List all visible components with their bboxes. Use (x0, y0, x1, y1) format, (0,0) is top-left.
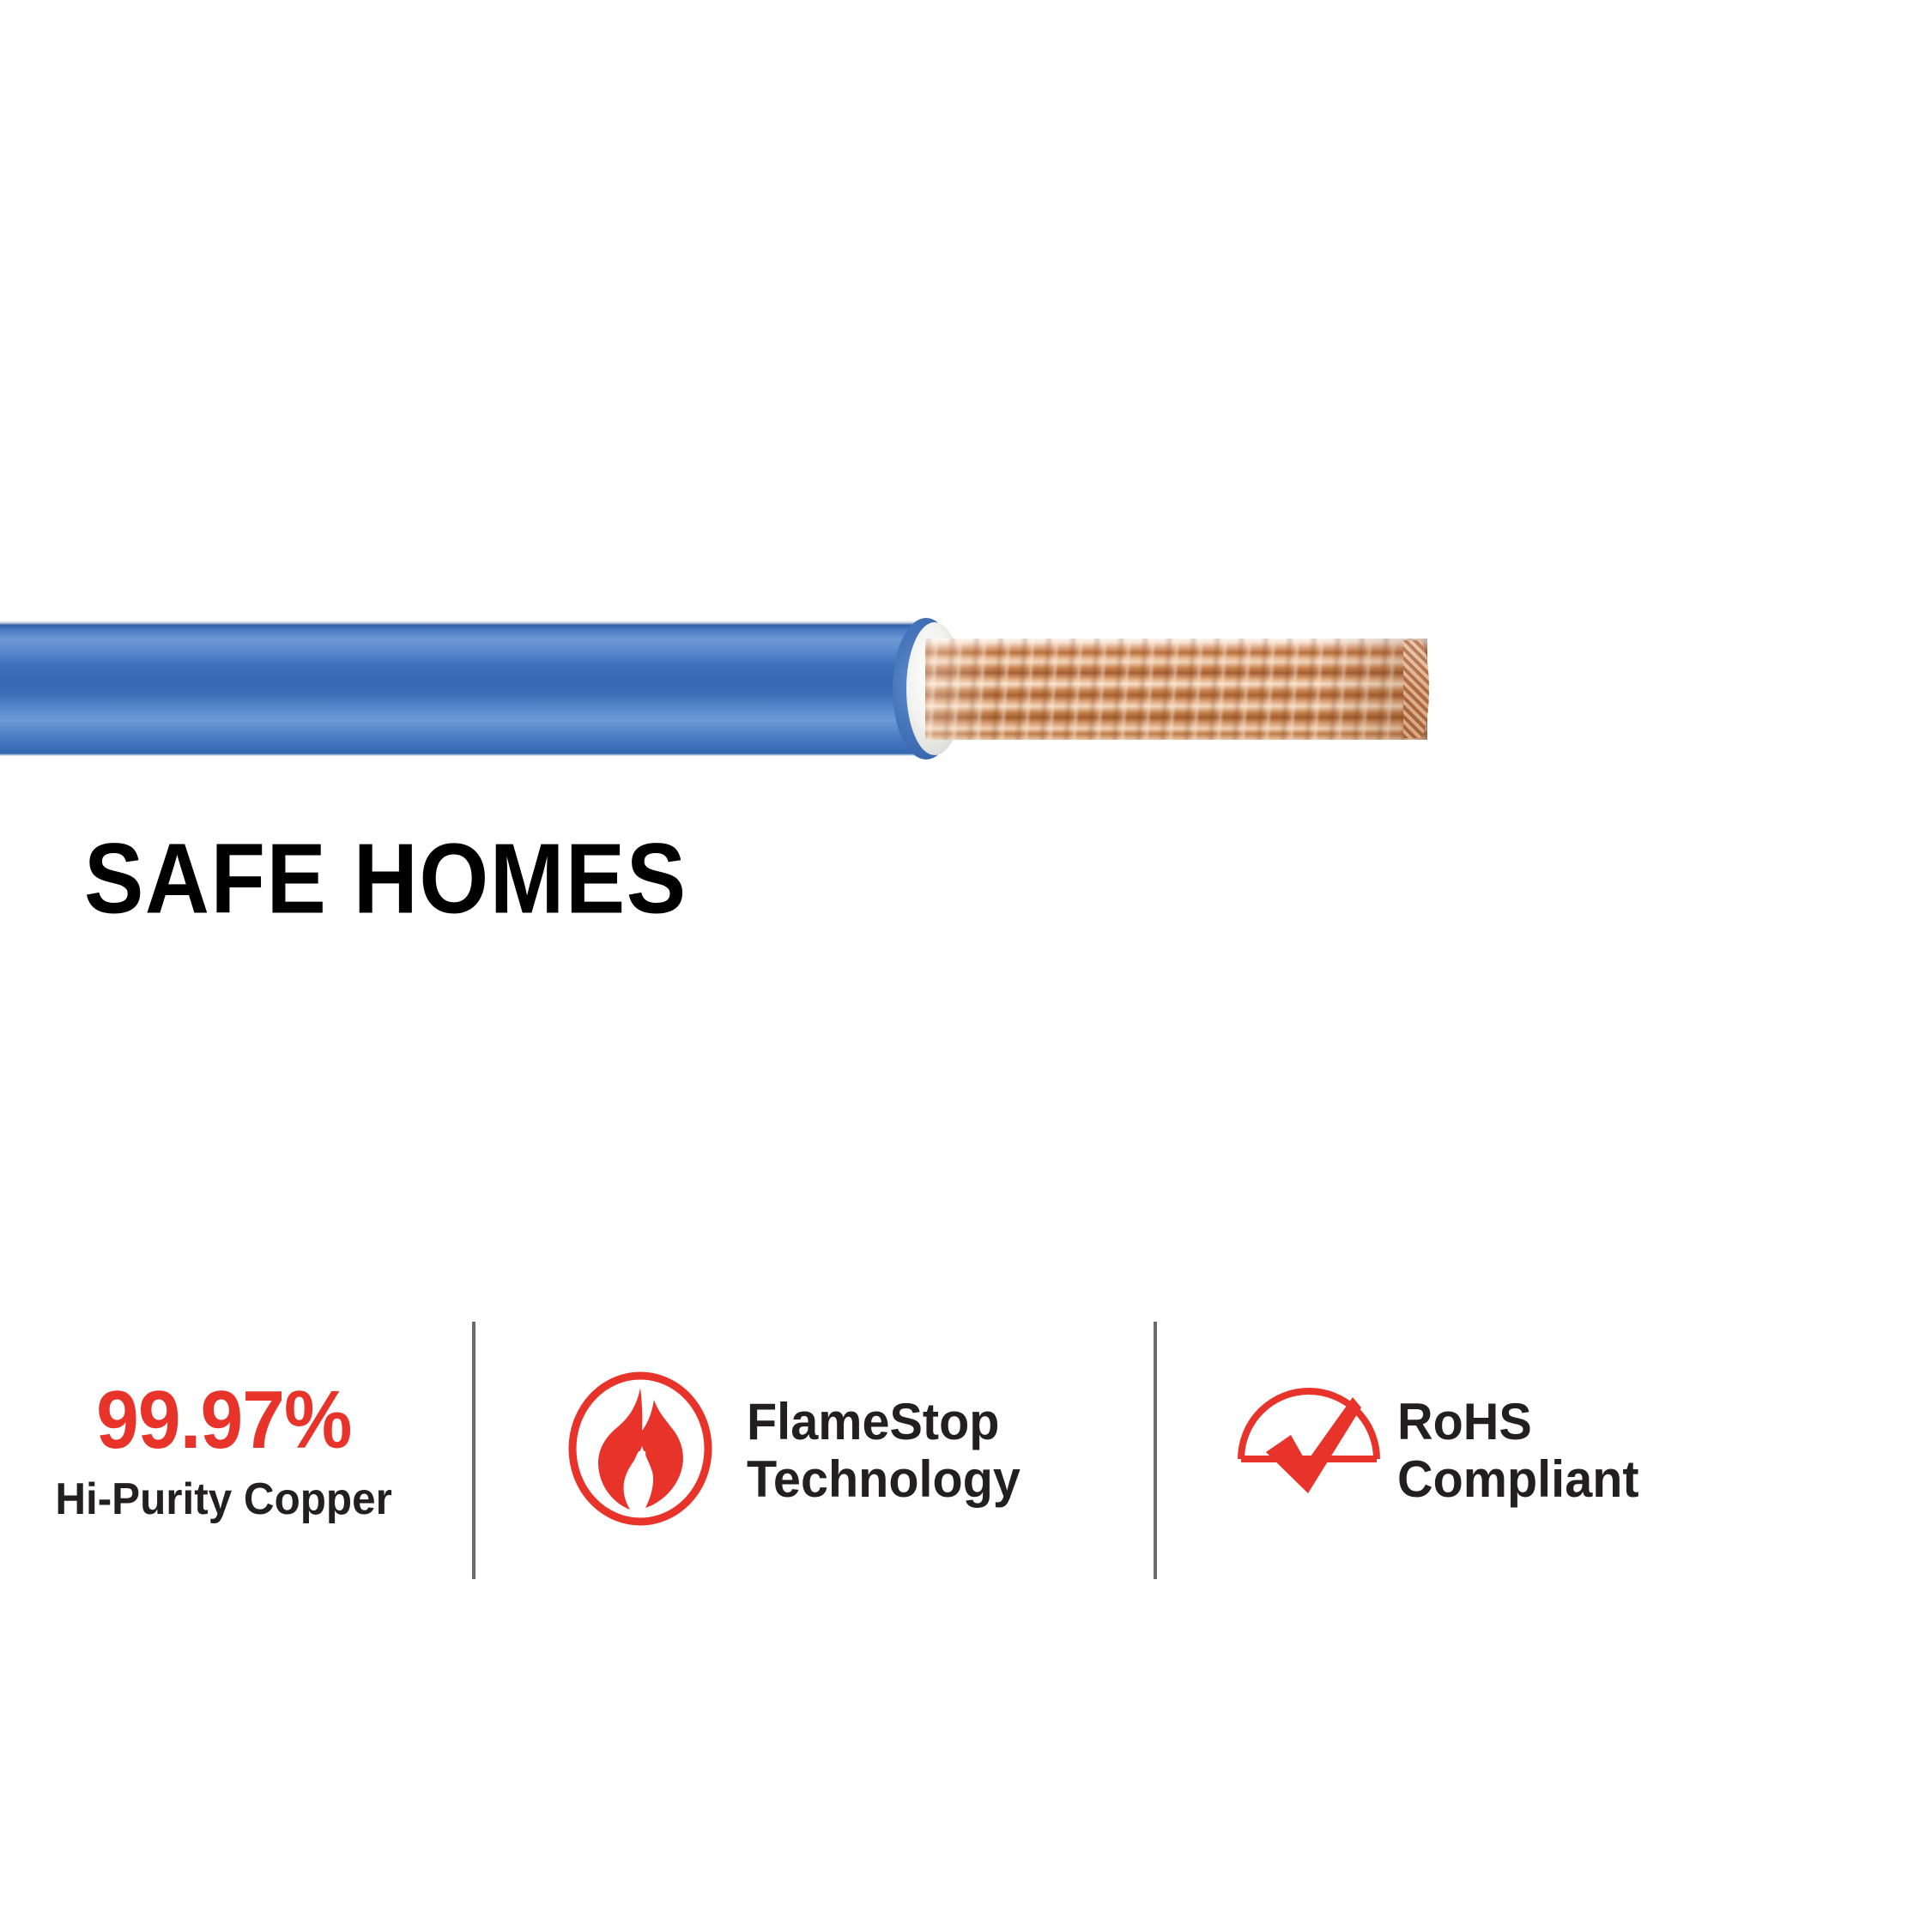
feature-badge-flamestop: FlameStop Technology (475, 1322, 1154, 1579)
feature-badge-purity: 99.97% Hi-Purity Copper (0, 1322, 472, 1579)
rohs-label-line2: Compliant (1397, 1450, 1639, 1508)
copper-conductor-bundle (925, 639, 1427, 740)
purity-percentage-value: 99.97% (96, 1379, 351, 1462)
rohs-check-dome-icon (1231, 1373, 1387, 1506)
copper-strand-cut-ends (1403, 640, 1429, 738)
cable-blue-jacket (0, 620, 931, 756)
page-title: SAFE HOMES (84, 829, 687, 929)
cable-jacket-top-highlight (0, 620, 931, 626)
flame-in-circle-icon (565, 1369, 716, 1533)
flamestop-label: FlameStop Technology (747, 1393, 1021, 1508)
purity-label: Hi-Purity Copper (56, 1477, 392, 1522)
rohs-label-line1: RoHS (1397, 1393, 1639, 1450)
feature-badge-rohs: RoHS Compliant (1157, 1322, 1818, 1579)
rohs-label: RoHS Compliant (1397, 1393, 1639, 1508)
feature-badge-strip: 99.97% Hi-Purity Copper FlameStop Techno… (0, 1322, 1932, 1596)
flamestop-label-line2: Technology (747, 1450, 1021, 1508)
flamestop-label-line1: FlameStop (747, 1393, 1021, 1450)
cable-product-image (0, 601, 1459, 781)
poster-canvas: SAFE HOMES 99.97% Hi-Purity Copper Flame… (0, 0, 1932, 1931)
copper-sheen-overlay (925, 639, 1427, 740)
